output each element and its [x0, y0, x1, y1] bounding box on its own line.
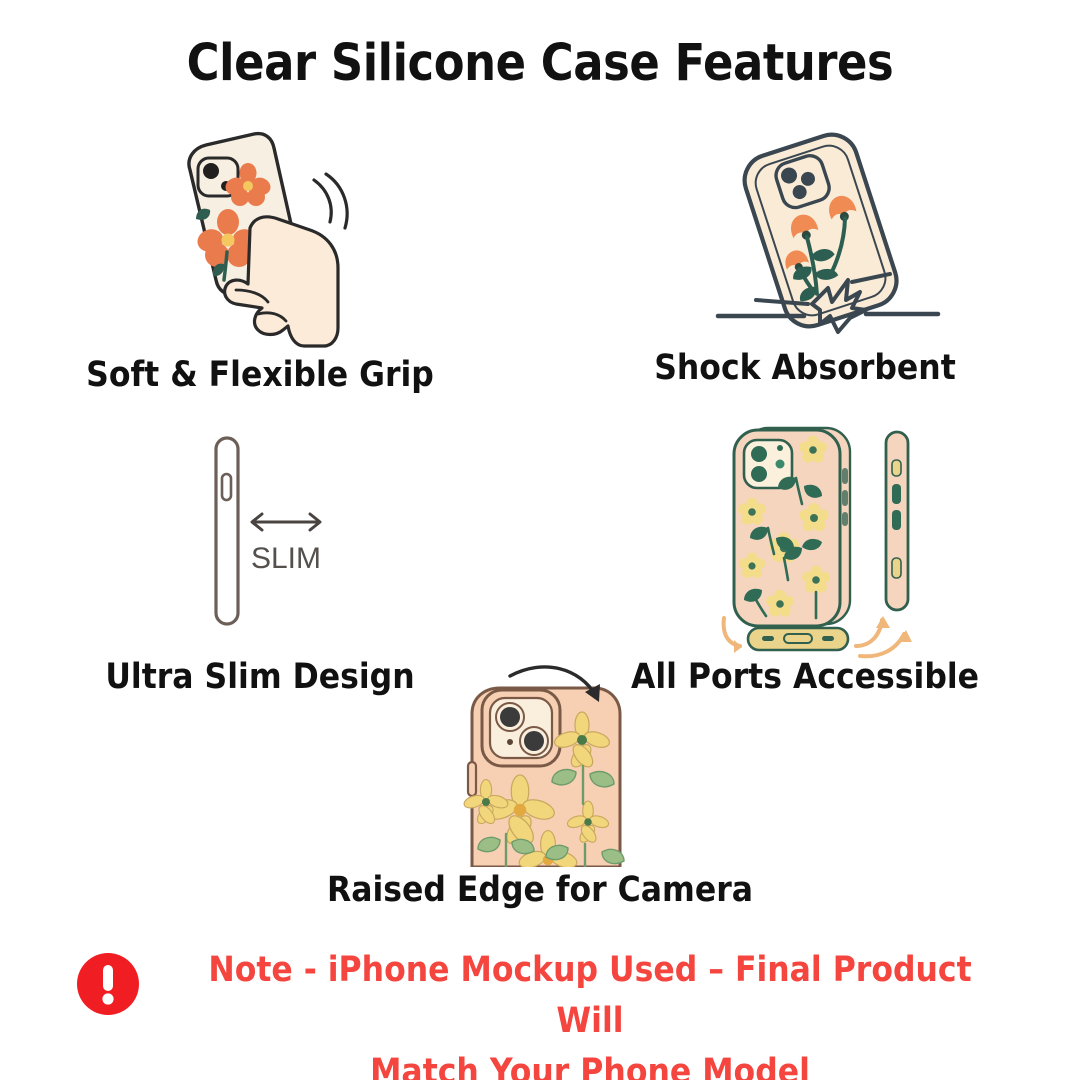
page-title: Clear Silicone Case Features [65, 34, 1015, 93]
slim-badge-text: SLIM [251, 542, 321, 575]
feature-label-ultra-slim-design: Ultra Slim Design [26, 657, 494, 697]
note-line-2: Match Your Phone Model [194, 1047, 986, 1080]
infographic-page: Clear Silicone Case Features [0, 0, 1080, 1080]
phone-case-impact-burst-icon [700, 118, 950, 343]
phone-side-profile-slim-icon: SLIM [188, 428, 368, 638]
feature-label-raised-edge-for-camera: Raised Edge for Camera [54, 870, 1026, 910]
note-banner: Note - iPhone Mockup Used – Final Produc… [0, 945, 1080, 1055]
note-text: Note - iPhone Mockup Used – Final Produc… [194, 945, 986, 1080]
hand-holding-flexing-phone-case-icon [128, 118, 388, 348]
phone-case-raised-camera-bump-icon [452, 662, 642, 867]
phone-case-ports-views-icon [718, 420, 933, 660]
feature-label-shock-absorbent: Shock Absorbent [571, 348, 1039, 388]
note-line-1: Note - iPhone Mockup Used – Final Produc… [208, 950, 971, 1041]
exclamation-circle-icon [76, 952, 140, 1016]
feature-label-soft-flexible-grip: Soft & Flexible Grip [26, 355, 494, 395]
